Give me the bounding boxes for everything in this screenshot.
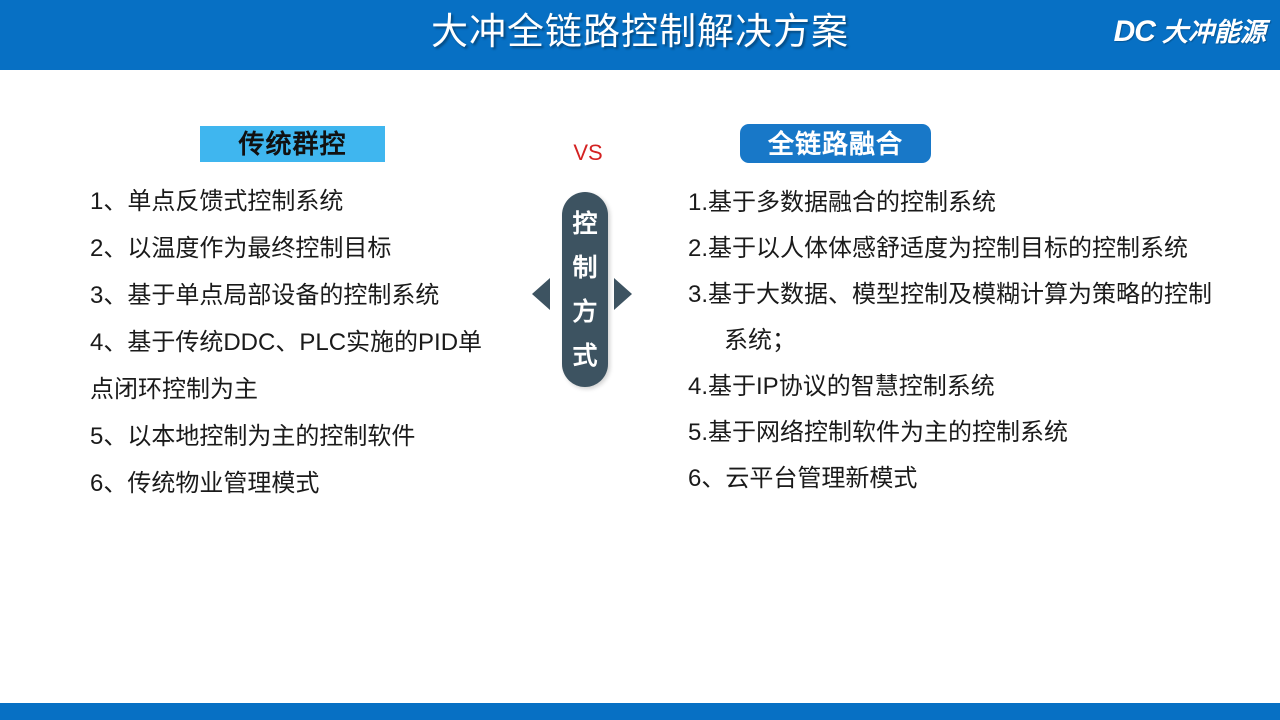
logo-company-name: 大冲能源 [1162,16,1266,48]
center-badge-char: 制 [572,246,597,290]
list-item: 3、基于单点局部设备的控制系统 [90,272,540,319]
list-item: 3.基于大数据、模型控制及模糊计算为策略的控制 [688,272,1280,318]
center-badge-control-method: 控制方式 [562,192,608,387]
list-item: 6、传统物业管理模式 [90,460,540,507]
list-item: 点闭环控制为主 [90,366,540,413]
logo-mark-dc: DC [1114,16,1155,48]
center-badge-char: 控 [572,202,597,246]
center-badge-char: 式 [572,334,597,378]
left-column-heading: 传统群控 [200,126,385,162]
right-arrow-icon [614,278,632,310]
list-item: 1、单点反馈式控制系统 [90,178,540,225]
footer-bar [0,703,1280,720]
vs-label: VS [558,140,618,166]
center-badge-char: 方 [572,290,597,334]
brand-logo: DC 大冲能源 [1114,16,1266,48]
list-item: 4、基于传统DDC、PLC实施的PID单 [90,319,540,366]
left-bullet-list: 1、单点反馈式控制系统2、以温度作为最终控制目标3、基于单点局部设备的控制系统4… [90,178,540,507]
right-bullet-list: 1.基于多数据融合的控制系统2.基于以人体体感舒适度为控制目标的控制系统3.基于… [688,180,1280,502]
left-column-heading-label: 传统群控 [238,129,346,159]
list-item: 2、以温度作为最终控制目标 [90,225,540,272]
list-item: 5.基于网络控制软件为主的控制系统 [688,410,1280,456]
left-arrow-icon [532,278,550,310]
list-item: 2.基于以人体体感舒适度为控制目标的控制系统 [688,226,1280,272]
page-title: 大冲全链路控制解决方案 [0,5,1280,59]
right-column-heading: 全链路融合 [740,124,931,163]
slide-canvas: 大冲全链路控制解决方案 DC 大冲能源 传统群控 全链路融合 1、单点反馈式控制… [0,0,1280,720]
list-item: 系统； [688,318,1280,364]
list-item: 1.基于多数据融合的控制系统 [688,180,1280,226]
list-item: 4.基于IP协议的智慧控制系统 [688,364,1280,410]
list-item: 5、以本地控制为主的控制软件 [90,413,540,460]
list-item: 6、云平台管理新模式 [688,456,1280,502]
right-column-heading-label: 全链路融合 [768,129,903,159]
